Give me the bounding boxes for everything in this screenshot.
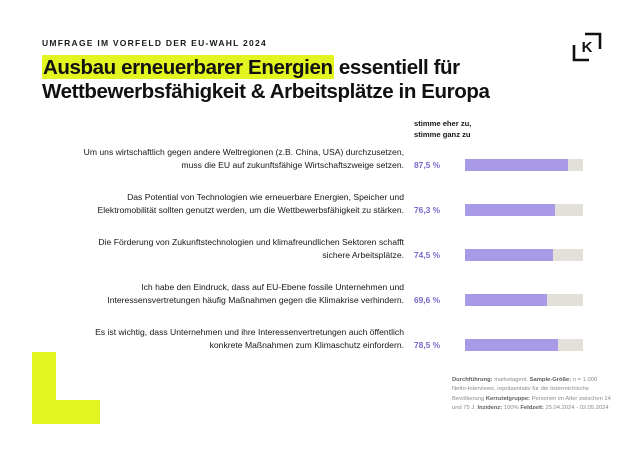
row-question-label: Ich habe den Eindruck, dass auf EU-Ebene… xyxy=(42,281,404,307)
bar-fill xyxy=(465,204,555,216)
row-question-line-2: sichere Arbeitsplätze. xyxy=(322,250,404,260)
bar-track xyxy=(465,294,583,306)
chart-row: Um uns wirtschaftlich gegen andere Weltr… xyxy=(0,144,640,189)
eyebrow-label: UMFRAGE IM VORFELD DER EU-WAHL 2024 xyxy=(42,38,267,48)
footer-kernzielgruppe-label: Kernzielgruppe: xyxy=(486,396,530,402)
row-question-line-1: Ich habe den Eindruck, dass auf EU-Ebene… xyxy=(141,282,404,292)
row-question-line-2: Elektromobilität sollten genutzt werden,… xyxy=(97,205,404,215)
logo-letter: K xyxy=(582,39,593,56)
footer-inzidenz-value: 100% xyxy=(502,405,518,411)
row-question-label: Das Potential von Technologien wie erneu… xyxy=(42,191,404,217)
legend-line-1: stimme eher zu, xyxy=(414,118,471,129)
footer-feldzeit-label: Feldzeit: xyxy=(520,405,544,411)
legend-line-2: stimme ganz zu xyxy=(414,129,471,140)
row-question-line-2: muss die EU auf zukunftsfähige Wirtschaf… xyxy=(181,160,404,170)
bar-fill xyxy=(465,294,547,306)
page-title: Ausbau erneuerbarer Energien essentiell … xyxy=(42,56,582,104)
methodology-footnote: Durchführung: marketagent. Sample-Größe:… xyxy=(452,376,612,414)
row-question-line-1: Um uns wirtschaftlich gegen andere Weltr… xyxy=(84,147,404,157)
chart-row: Ich habe den Eindruck, dass auf EU-Ebene… xyxy=(0,279,640,324)
row-value-label: 69,6 % xyxy=(414,295,458,305)
row-question-label: Die Förderung von Zukunftstechnologien u… xyxy=(42,236,404,262)
bar-track xyxy=(465,249,583,261)
row-question-line-2: Interessensvertretungen häufig Maßnahmen… xyxy=(107,295,404,305)
bar-track xyxy=(465,159,583,171)
chart-row: Das Potential von Technologien wie erneu… xyxy=(0,189,640,234)
row-question-line-1: Die Förderung von Zukunftstechnologien u… xyxy=(98,237,404,247)
row-question-label: Um uns wirtschaftlich gegen andere Weltr… xyxy=(42,146,404,172)
row-question-line-1: Das Potential von Technologien wie erneu… xyxy=(127,192,404,202)
decorative-l-shape xyxy=(32,352,100,424)
footer-feldzeit-value: 25.04.2024 - 02.05.2024 xyxy=(544,405,609,411)
row-question-line-1: Es ist wichtig, dass Unternehmen und ihr… xyxy=(95,327,404,337)
headline-rest: essentiell für xyxy=(334,56,460,79)
row-question-label: Es ist wichtig, dass Unternehmen und ihr… xyxy=(42,326,404,352)
bar-fill xyxy=(465,339,558,351)
headline-highlight: Ausbau erneuerbarer Energien xyxy=(42,55,334,79)
chart-row: Die Förderung von Zukunftstechnologien u… xyxy=(0,234,640,279)
chart-rows: Um uns wirtschaftlich gegen andere Weltr… xyxy=(0,144,640,369)
row-value-label: 76,3 % xyxy=(414,205,458,215)
decorative-l-horizontal xyxy=(32,400,100,424)
row-value-label: 87,5 % xyxy=(414,160,458,170)
bar-fill xyxy=(465,159,568,171)
row-value-label: 74,5 % xyxy=(414,250,458,260)
bar-fill xyxy=(465,249,553,261)
footer-durchfuehrung-label: Durchführung: xyxy=(452,377,493,383)
bar-track xyxy=(465,339,583,351)
legend: stimme eher zu, stimme ganz zu xyxy=(414,118,471,140)
bar-track xyxy=(465,204,583,216)
footer-sample-label: Sample-Größe: xyxy=(530,377,572,383)
headline-line-2: Wettbewerbsfähigkeit & Arbeitsplätze in … xyxy=(42,80,582,104)
row-question-line-2: konkrete Maßnahmen zum Klimaschutz einfo… xyxy=(210,340,404,350)
row-value-label: 78,5 % xyxy=(414,340,458,350)
footer-durchfuehrung-value: marketagent. xyxy=(493,377,528,383)
footer-inzidenz-label: Inzidenz: xyxy=(477,405,502,411)
